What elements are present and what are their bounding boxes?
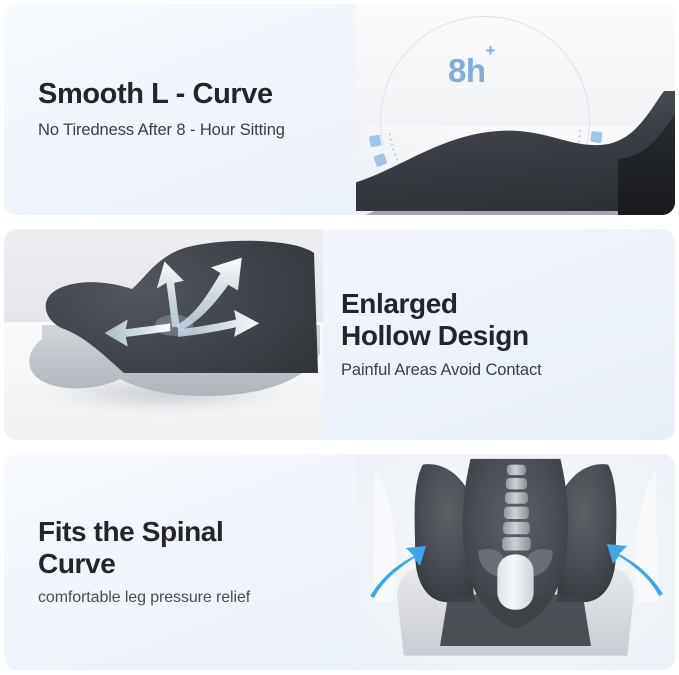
panel-1-headline: Smooth L - Curve xyxy=(38,78,334,111)
panel-2-backdrop xyxy=(4,229,323,440)
panel-3-text-block: Fits the Spinal Curve comfortable leg pr… xyxy=(4,454,356,670)
lift-arrow-right-icon xyxy=(605,540,667,602)
lift-arrow-left-icon xyxy=(366,542,428,604)
panel-3-backdrop xyxy=(356,454,675,670)
panel-1-image: 8h+ xyxy=(356,4,675,215)
l-curve-cushion-illustration xyxy=(356,113,675,215)
panel-2-text-block: Enlarged Hollow Design Painful Areas Avo… xyxy=(323,229,675,440)
panel-1-backdrop: 8h+ xyxy=(356,4,675,215)
hours-value: 8h xyxy=(448,52,486,89)
pressure-relief-arrows-icon xyxy=(4,229,323,440)
panel-3-headline: Fits the Spinal Curve xyxy=(38,516,334,579)
arrow-up-right xyxy=(176,258,242,331)
panel-2-headline: Enlarged Hollow Design xyxy=(341,288,653,351)
panel-2-subline: Painful Areas Avoid Contact xyxy=(341,360,653,381)
panel-1-subline: No Tiredness After 8 - Hour Sitting xyxy=(38,120,334,141)
panel-3-image xyxy=(356,454,675,670)
panel-3-subline: comfortable leg pressure relief xyxy=(38,588,334,608)
hours-badge: 8h+ xyxy=(448,52,495,90)
panel-1-text-block: Smooth L - Curve No Tiredness After 8 - … xyxy=(4,4,356,215)
infographic-board: Smooth L - Curve No Tiredness After 8 - … xyxy=(0,0,679,675)
feature-panel-smooth-l-curve: Smooth L - Curve No Tiredness After 8 - … xyxy=(4,4,675,215)
feature-panel-enlarged-hollow-design: Enlarged Hollow Design Painful Areas Avo… xyxy=(4,229,675,440)
panel-2-image xyxy=(4,229,323,440)
feature-panel-fits-the-spinal-curve: Fits the Spinal Curve comfortable leg pr… xyxy=(4,454,675,670)
hours-superscript: + xyxy=(486,41,495,60)
tailbone-relief-pad xyxy=(497,554,533,609)
